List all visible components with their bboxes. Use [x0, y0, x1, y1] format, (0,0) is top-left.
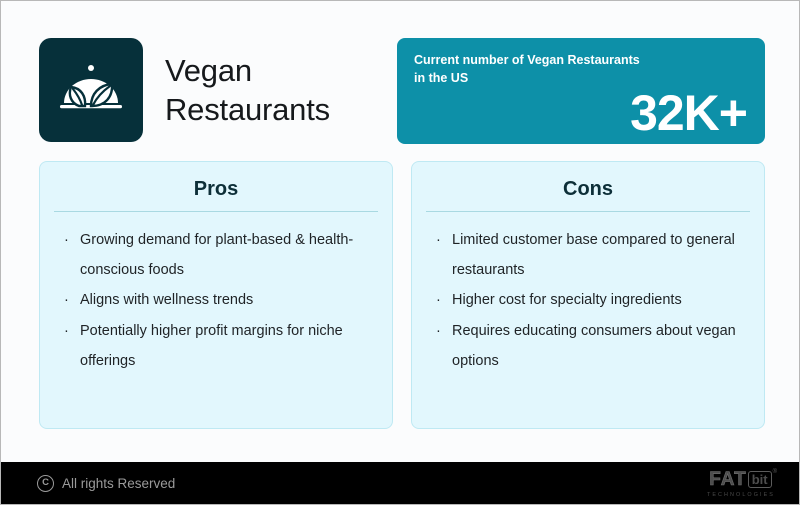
pros-divider — [54, 211, 378, 212]
list-item-text: Requires educating consumers about vegan… — [452, 323, 736, 369]
list-item-text: Growing demand for plant-based & health-… — [80, 232, 353, 278]
bullet-icon: · — [64, 226, 69, 256]
stat-value: 32K+ — [630, 88, 747, 138]
registered-icon: ® — [773, 469, 777, 475]
list-item: · Limited customer base compared to gene… — [434, 226, 744, 285]
list-item: · Potentially higher profit margins for … — [62, 317, 372, 376]
cons-title: Cons — [424, 174, 752, 211]
bullet-icon: · — [436, 226, 441, 256]
bullet-icon: · — [64, 286, 69, 316]
stat-card: Current number of Vegan Restaurants in t… — [397, 38, 765, 144]
bullet-icon: · — [64, 317, 69, 347]
cons-divider — [426, 211, 750, 212]
list-item-text: Limited customer base compared to genera… — [452, 232, 735, 278]
list-item: · Requires educating consumers about veg… — [434, 317, 744, 376]
brand-logo: FAT bit ® TECHNOLOGIES — [707, 469, 777, 498]
header-row: Vegan Restaurants Current number of Vega… — [39, 38, 765, 144]
pros-title: Pros — [52, 174, 380, 211]
list-item-text: Aligns with wellness trends — [80, 292, 253, 308]
bullet-icon: · — [436, 317, 441, 347]
list-item: · Higher cost for specialty ingredients — [434, 286, 744, 316]
infographic-canvas: Vegan Restaurants Current number of Vega… — [0, 0, 800, 505]
copyright-text: All rights Reserved — [62, 476, 175, 491]
pros-list: · Growing demand for plant-based & healt… — [52, 226, 380, 378]
cons-card: Cons · Limited customer base compared to… — [411, 161, 765, 429]
brand-wordmark: FAT bit ® — [709, 469, 777, 491]
copyright: C All rights Reserved — [37, 475, 175, 492]
page-title: Vegan Restaurants — [165, 51, 395, 129]
footer-bar: C All rights Reserved FAT bit ® TECHNOLO… — [1, 462, 799, 504]
copyright-icon: C — [37, 475, 54, 492]
cons-list: · Limited customer base compared to gene… — [424, 226, 752, 378]
brand-tagline: TECHNOLOGIES — [707, 492, 775, 498]
cloche-leaf-icon — [39, 38, 143, 142]
bullet-icon: · — [436, 286, 441, 316]
pros-card: Pros · Growing demand for plant-based & … — [39, 161, 393, 429]
list-item-text: Potentially higher profit margins for ni… — [80, 323, 343, 369]
stat-label: Current number of Vegan Restaurants in t… — [414, 52, 644, 88]
title-block: Vegan Restaurants — [39, 38, 395, 142]
list-item: · Aligns with wellness trends — [62, 286, 372, 316]
list-item-text: Higher cost for specialty ingredients — [452, 292, 682, 308]
brand-fat-text: FAT — [709, 469, 746, 491]
pros-cons-row: Pros · Growing demand for plant-based & … — [39, 161, 765, 429]
list-item: · Growing demand for plant-based & healt… — [62, 226, 372, 285]
brand-bit-badge: bit — [748, 471, 772, 488]
